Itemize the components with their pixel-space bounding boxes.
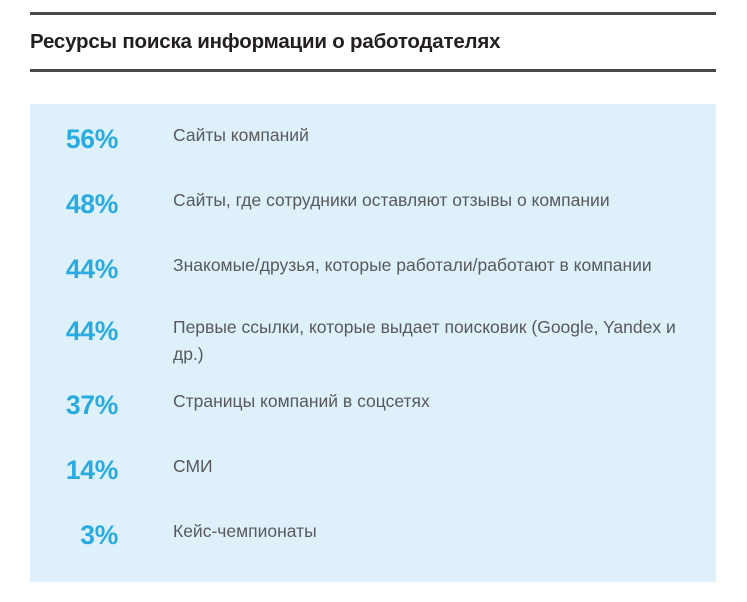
statistics-list: 56% Сайты компаний 48% Сайты, где сотруд… <box>30 122 716 560</box>
percentage-value: 3% <box>30 518 118 550</box>
percentage-value: 14% <box>30 453 118 485</box>
list-item: 44% Знакомые/друзья, которые работали/ра… <box>30 252 716 294</box>
list-item: 3% Кейс-чемпионаты <box>30 518 716 560</box>
list-item: 14% СМИ <box>30 453 716 495</box>
percentage-value: 44% <box>30 252 118 284</box>
list-item: 44% Первые ссылки, которые выдает поиско… <box>30 314 716 368</box>
percentage-value: 37% <box>30 388 118 420</box>
item-label: Кейс-чемпионаты <box>173 518 716 545</box>
percentage-value: 56% <box>30 122 118 154</box>
percentage-value: 48% <box>30 187 118 219</box>
item-label: Страницы компаний в соцсетях <box>173 388 716 415</box>
infographic-page: Ресурсы поиска информации о работодателя… <box>0 0 747 602</box>
list-item: 48% Сайты, где сотрудники оставляют отзы… <box>30 187 716 229</box>
item-label: Знакомые/друзья, которые работали/работа… <box>173 252 716 279</box>
item-label: Первые ссылки, которые выдает поисковик … <box>173 314 716 368</box>
item-label: Сайты, где сотрудники оставляют отзывы о… <box>173 187 716 214</box>
title-block: Ресурсы поиска информации о работодателя… <box>30 12 716 72</box>
item-label: СМИ <box>173 453 716 480</box>
list-item: 56% Сайты компаний <box>30 122 716 164</box>
item-label: Сайты компаний <box>173 122 716 149</box>
title-rule-bottom <box>30 69 716 72</box>
percentage-value: 44% <box>30 314 118 346</box>
page-title: Ресурсы поиска информации о работодателя… <box>30 15 716 69</box>
list-item: 37% Страницы компаний в соцсетях <box>30 388 716 430</box>
statistics-panel: 56% Сайты компаний 48% Сайты, где сотруд… <box>30 104 716 582</box>
